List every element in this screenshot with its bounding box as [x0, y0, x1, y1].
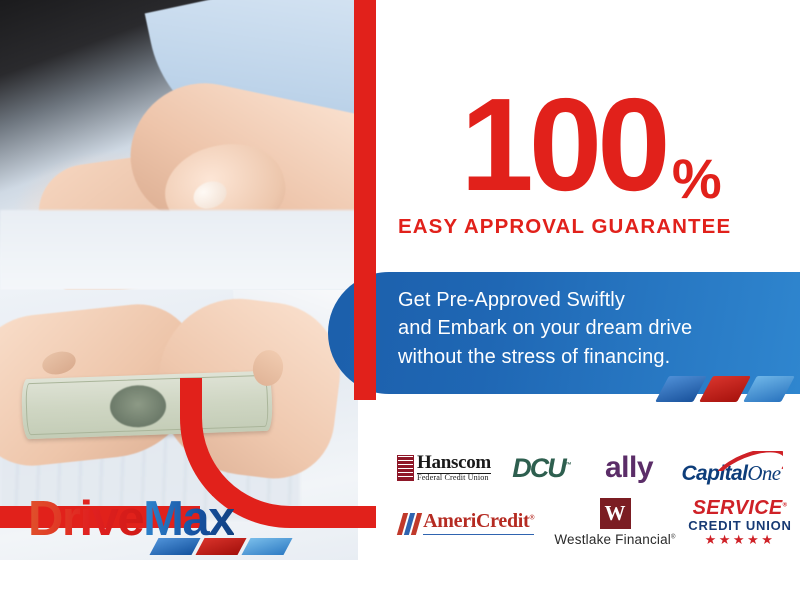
westlake-w-mark-icon: W: [600, 498, 631, 529]
promo-copy: Get Pre-Approved Swiftly and Embark on y…: [398, 286, 758, 371]
headline-number: 100: [460, 71, 665, 218]
headline-block: 100% EASY APPROVAL GUARANTEE: [398, 80, 728, 239]
americredit-trademark: ®: [529, 513, 534, 521]
chevron-accent-group: [662, 376, 792, 402]
lender-logo-grid: Hanscom Federal Credit Union DCU™ ally C…: [392, 444, 792, 552]
westlake-mark-letter: W: [605, 503, 626, 524]
white-footer-band: [0, 560, 800, 600]
drivemax-logo[interactable]: DriveMax: [28, 495, 234, 562]
percent-sign: %: [672, 152, 720, 207]
americredit-name: AmeriCredit: [423, 510, 529, 532]
promo-line-2: and Embark on your dream drive: [398, 314, 758, 342]
drivemax-wordmark: DriveMax: [28, 495, 234, 544]
ally-name: ally: [605, 451, 653, 485]
westlake-trademark: ®: [671, 534, 676, 540]
lender-logo-americredit[interactable]: AmeriCredit®: [392, 510, 542, 535]
capital-one-swoosh-icon: [709, 451, 783, 471]
service-cu-stars-icon: ★★★★★: [705, 533, 776, 546]
promo-line-1: Get Pre-Approved Swiftly: [398, 286, 758, 314]
dcu-trademark: ™: [565, 462, 572, 469]
service-cu-line2: CREDIT UNION: [688, 519, 792, 532]
lender-logo-capital-one[interactable]: CapitalOne: [670, 453, 792, 484]
hanscom-name: Hanscom: [417, 453, 491, 472]
service-cu-trademark: ®: [783, 502, 788, 508]
americredit-slash-icon: [396, 513, 421, 535]
hundred-percent-number: 100%: [460, 80, 665, 209]
desk-surface: [0, 210, 358, 290]
red-divider-bar: [354, 0, 376, 400]
lender-logo-westlake-financial[interactable]: W Westlake Financial®: [542, 498, 688, 547]
chevron-red-icon: [699, 376, 751, 402]
handshake-photo: [0, 0, 358, 290]
chevron-blue-icon: [655, 376, 707, 402]
lender-logo-dcu[interactable]: DCU™: [496, 453, 588, 484]
westlake-name: Westlake Financial: [554, 532, 671, 547]
hanscom-tagline: Federal Credit Union: [417, 473, 491, 483]
lender-logo-service-credit-union[interactable]: SERVICE® CREDIT UNION ★★★★★: [688, 498, 792, 546]
dcu-name: DCU: [512, 453, 565, 483]
service-cu-line1: SERVICE: [693, 497, 783, 519]
promo-line-3: without the stress of financing.: [398, 343, 758, 371]
headline-subtitle: EASY APPROVAL GUARANTEE: [398, 215, 728, 239]
logo-text-drive: Drive: [28, 492, 143, 546]
logo-chevron-group: [154, 538, 294, 556]
logo-chevron-red-icon: [195, 538, 246, 555]
lender-row-1: Hanscom Federal Credit Union DCU™ ally C…: [392, 444, 792, 492]
lender-row-2: AmeriCredit® W Westlake Financial® SERVI…: [392, 496, 792, 548]
advertisement-banner: 100% EASY APPROVAL GUARANTEE Get Pre-App…: [0, 0, 800, 600]
logo-chevron-lightblue-icon: [241, 538, 292, 555]
logo-chevron-blue-icon: [149, 538, 200, 555]
hanscom-crest-icon: [397, 455, 414, 481]
lender-logo-hanscom[interactable]: Hanscom Federal Credit Union: [392, 453, 496, 482]
chevron-lightblue-icon: [743, 376, 795, 402]
lender-logo-ally[interactable]: ally: [588, 451, 670, 485]
